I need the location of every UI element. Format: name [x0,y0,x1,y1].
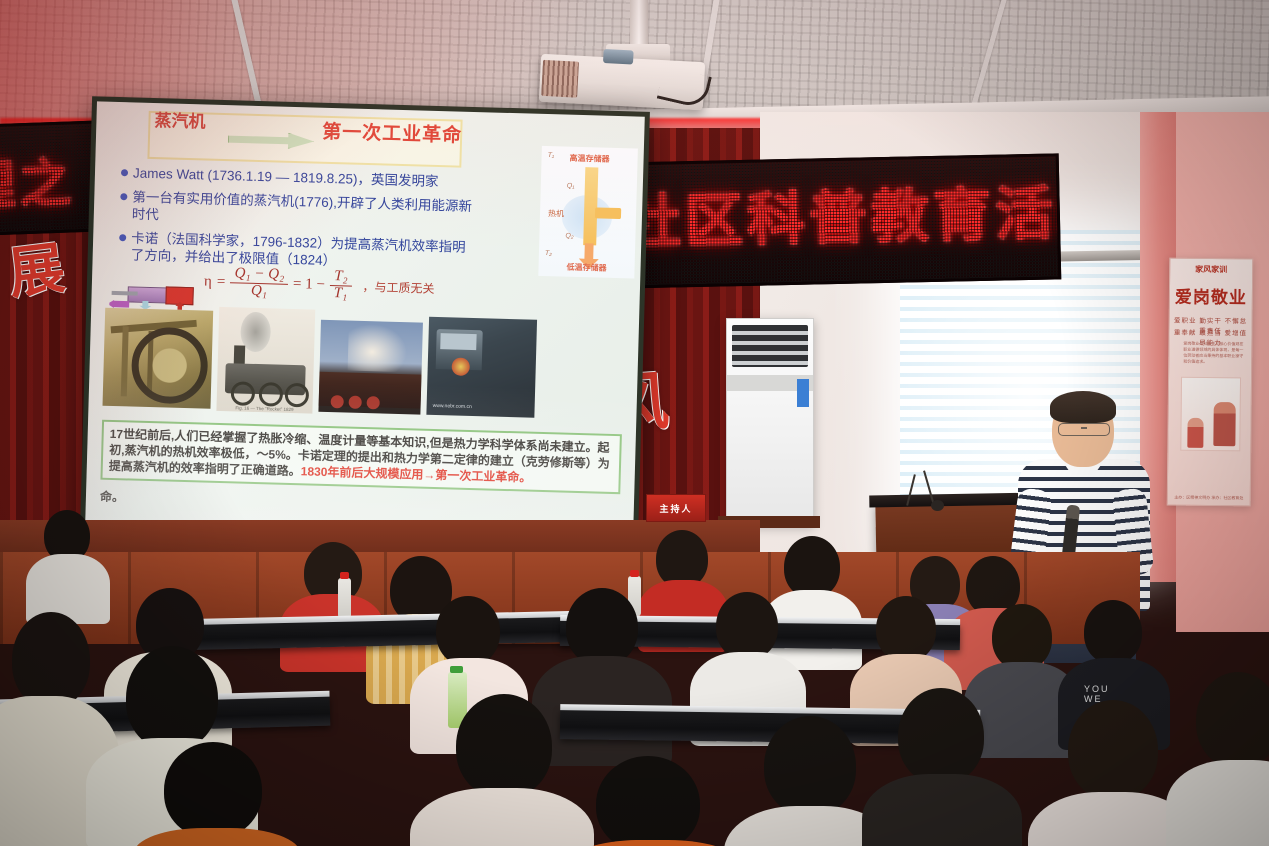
carnot-q-hot: Q₁ [567,183,575,190]
person-torso [862,774,1022,846]
person-head [436,596,500,666]
glasses-icon [1058,423,1110,436]
piston-rod [112,291,138,296]
water-bottle [338,578,351,618]
bullet-dot-icon [119,234,126,241]
formula-equals-2: = 1 − [293,276,325,294]
microphone-head [931,500,944,511]
carnot-q-cold: Q₂ [565,233,573,240]
desk-nameplate: 主持人 [646,494,706,522]
poster-figure-girl [1187,418,1203,448]
carnot-flow-bar [583,167,598,245]
rocket-locomotive-engraving: Fig. 16 — The "Rocket" 1829 [216,307,315,414]
person-head [12,612,90,708]
formula-numerator-1: Q₁ − Q₂ [230,266,288,284]
person-torso [410,788,594,846]
carnot-work-arm [595,207,621,219]
locomotive-wheel [367,396,380,409]
formula-fraction-2: T₂ T₁ [329,269,351,302]
formula-numerator-2: T₂ [330,269,352,286]
person-head [126,646,218,750]
desk [190,616,570,650]
presentation-slide: 蒸汽机 第一次工业革命 James Watt (1736.1.19 — 1819… [85,101,645,538]
poster-header: 家风家训 [1170,264,1252,276]
poster-title: 爱岗敬业 [1170,283,1252,309]
carnot-cycle-diagram: 高温存储器 热机 Q₁ Q₂ T₁ T₂ 低温存储器 [538,146,638,279]
smoke-plume [348,323,409,373]
engine-column [121,326,129,396]
formula-denominator-1: Q₁ [247,283,271,299]
carnot-engine-label: 热机 [548,208,564,219]
electric-locomotive-photo: www.nebr.com.cn [426,317,537,418]
locomotive-wheel [231,381,256,406]
person-head [716,592,778,660]
formula-note: ，与工质无关 [362,278,434,297]
bottle-cap [340,572,349,579]
person-head [876,596,936,662]
bullet-dot-icon [120,193,127,200]
person-torso [1166,760,1269,846]
locomotive-wheel [259,382,284,407]
poster-body-text: 爱岗敬业是社会主义核心价值观在职业道德领域的具体体现，是每一位劳动者应当秉持的基… [1183,341,1243,366]
locomotive-wheel [349,396,362,409]
ceiling-projector [539,54,705,111]
slide-bullet-list: James Watt (1736.1.19 — 1819.8.25)，英国发明家… [118,164,481,280]
carnot-t-cold: T₂ [545,250,552,257]
list-item: 卡诺（法国科学家，1796-1832）为提高蒸汽机效率指明了方向，并给出了极限值… [118,229,479,273]
slide-title-left: 蒸汽机 [154,111,221,132]
formula-denominator-2: T₁ [329,286,351,302]
formula-equals-1: = [217,274,226,291]
lecture-hall-photo: 展 风 家风家训 爱岗敬业 爱职业 勤实干 不懈怠 重责任 重奉献 敢担当 爱增… [0,0,1269,846]
wall-poster: 家风家训 爱岗敬业 爱职业 勤实干 不懈怠 重责任 重奉献 敢担当 爱增值 尽能… [1167,258,1254,507]
slide-title-right: 第一次工业革命 [322,117,463,148]
person-head [456,694,552,798]
person-head [784,536,840,598]
ac-vent-grill [732,325,808,367]
presenter-hair [1050,391,1116,423]
watt-beam-engine-photo [103,308,214,409]
formula-fraction-1: Q₁ − Q₂ Q₁ [230,266,289,300]
led-banner-right: 社区科普教育活动 [613,153,1062,288]
list-item: 第一台有实用价值的蒸汽机(1776),开辟了人类利用能源新时代 [120,188,481,232]
list-item: James Watt (1736.1.19 — 1819.8.25)，英国发明家 [121,164,481,191]
piston-cycle-diagram [109,280,206,311]
led-banner-right-text: 社区科普教育活动 [622,165,1061,259]
poster-footer: 主办：区精神文明办 承办：社区教育处 [1168,495,1250,502]
person-head [164,742,262,838]
curtain-decor-character: 展 [3,223,68,310]
bullet-text: 第一台有实用价值的蒸汽机(1776),开辟了人类利用能源新时代 [132,188,481,232]
projection-screen-frame: 蒸汽机 第一次工业革命 James Watt (1736.1.19 — 1819… [80,96,650,543]
bullet-text: 卡诺（法国科学家，1796-1832）为提高蒸汽机效率指明了方向，并给出了极限值… [130,229,479,273]
carnot-efficiency-formula: η = Q₁ − Q₂ Q₁ = 1 − T₂ T₁ ，与工质无关 [204,265,435,304]
poster-figure-man [1213,402,1235,446]
bullet-text: James Watt (1736.1.19 — 1819.8.25)，英国发明家 [133,164,439,190]
person-head [566,588,638,666]
bottle-cap [630,570,639,577]
slide-summary-box: 17世纪前后,人们已经掌握了热胀冷缩、温度计量等基本知识,但是热力学科学体系尚未… [100,420,621,494]
locomotive-emblem [451,357,469,375]
engine-flywheel [131,327,209,405]
locomotive-windshield [440,333,476,350]
person-head [898,688,984,784]
bullet-dot-icon [121,169,128,176]
person-head [764,716,856,816]
image-watermark: www.nebr.com.cn [433,403,472,410]
person-head [1196,672,1269,768]
person-head [992,604,1052,670]
person-head [1084,600,1142,664]
steam-locomotive-photo [318,320,423,415]
projector-vent [541,60,579,98]
carnot-cold-label: 低温存储器 [538,261,634,275]
led-banner-left-text: 理之 [0,140,76,219]
carnot-t-hot: T₁ [548,152,555,159]
poster-illustration [1180,377,1241,452]
ac-energy-label [797,379,809,407]
carnot-hot-label: 高温存储器 [541,152,637,166]
person-head [596,756,700,846]
projection-screen: 蒸汽机 第一次工业革命 James Watt (1736.1.19 — 1819… [85,101,645,538]
locomotive-wheel [285,383,310,408]
slide-summary-tail: 命。 [100,488,124,506]
bottle-cap [450,666,463,673]
nameplate-text: 主持人 [647,495,705,521]
air-conditioner [726,318,814,525]
slide-summary-paragraph: 17世纪前后,人们已经掌握了热胀冷缩、温度计量等基本知识,但是热力学科学体系尚未… [109,426,614,488]
projector-lens [603,49,634,65]
locomotive-wheel [331,395,344,408]
person-head [1068,700,1158,800]
